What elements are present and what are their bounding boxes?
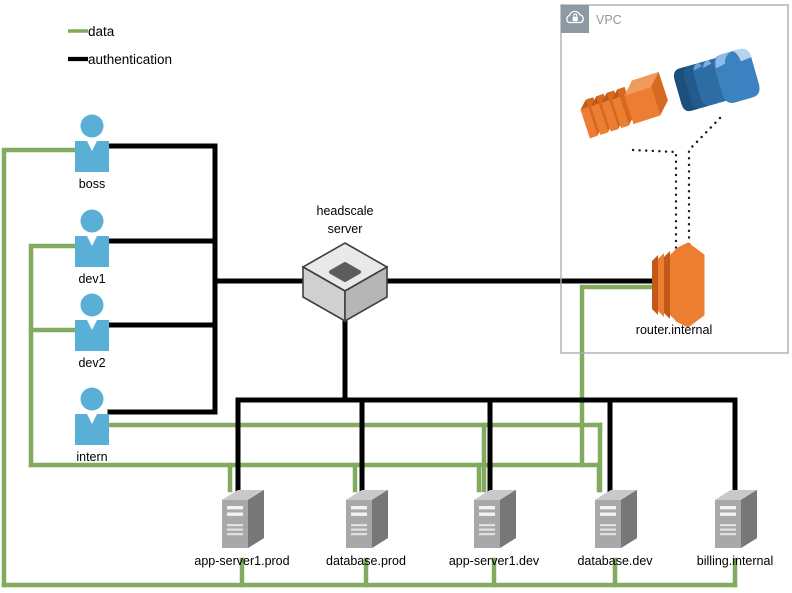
user-label-intern: intern bbox=[76, 450, 107, 464]
ec2-instance-stack-icon bbox=[577, 72, 672, 139]
server-label-database-dev: database.dev bbox=[577, 554, 653, 568]
legend: data authentication bbox=[68, 24, 172, 67]
headscale-label-line1: headscale bbox=[317, 204, 374, 218]
database-stack-icon bbox=[671, 47, 762, 117]
user-node-boss[interactable]: boss bbox=[75, 115, 109, 192]
vpc-label: VPC bbox=[596, 13, 622, 27]
router-icon bbox=[652, 243, 704, 327]
legend-item-authentication: authentication bbox=[68, 52, 172, 67]
diagram-canvas: VPC bbox=[0, 0, 792, 593]
server-label-database-prod: database.prod bbox=[326, 554, 406, 568]
headscale-server-icon bbox=[303, 243, 387, 321]
user-node-dev2[interactable]: dev2 bbox=[75, 294, 109, 371]
user-node-intern[interactable]: intern bbox=[75, 388, 109, 465]
server-label-billing-internal: billing.internal bbox=[697, 554, 773, 568]
server-node-billing-internal[interactable]: billing.internal bbox=[697, 490, 773, 568]
router-label: router.internal bbox=[636, 323, 712, 337]
server-label-app-server1-prod: app-server1.prod bbox=[194, 554, 289, 568]
user-label-boss: boss bbox=[79, 177, 105, 191]
auth-links bbox=[110, 146, 735, 490]
headscale-label-line2: server bbox=[328, 222, 363, 236]
server-node-database-dev[interactable]: database.dev bbox=[577, 490, 653, 568]
network-diagram: VPC bbox=[0, 0, 792, 593]
user-node-dev1[interactable]: dev1 bbox=[75, 210, 109, 287]
server-node-app-server1-prod[interactable]: app-server1.prod bbox=[194, 490, 289, 568]
legend-item-data: data bbox=[68, 24, 115, 39]
legend-authentication-label: authentication bbox=[88, 52, 172, 67]
server-node-app-server1-dev[interactable]: app-server1.dev bbox=[449, 490, 540, 568]
vpc-internal-links bbox=[633, 118, 720, 250]
user-label-dev1: dev1 bbox=[78, 272, 105, 286]
server-node-database-prod[interactable]: database.prod bbox=[326, 490, 406, 568]
server-label-app-server1-dev: app-server1.dev bbox=[449, 554, 540, 568]
legend-data-label: data bbox=[88, 24, 115, 39]
user-label-dev2: dev2 bbox=[78, 356, 105, 370]
